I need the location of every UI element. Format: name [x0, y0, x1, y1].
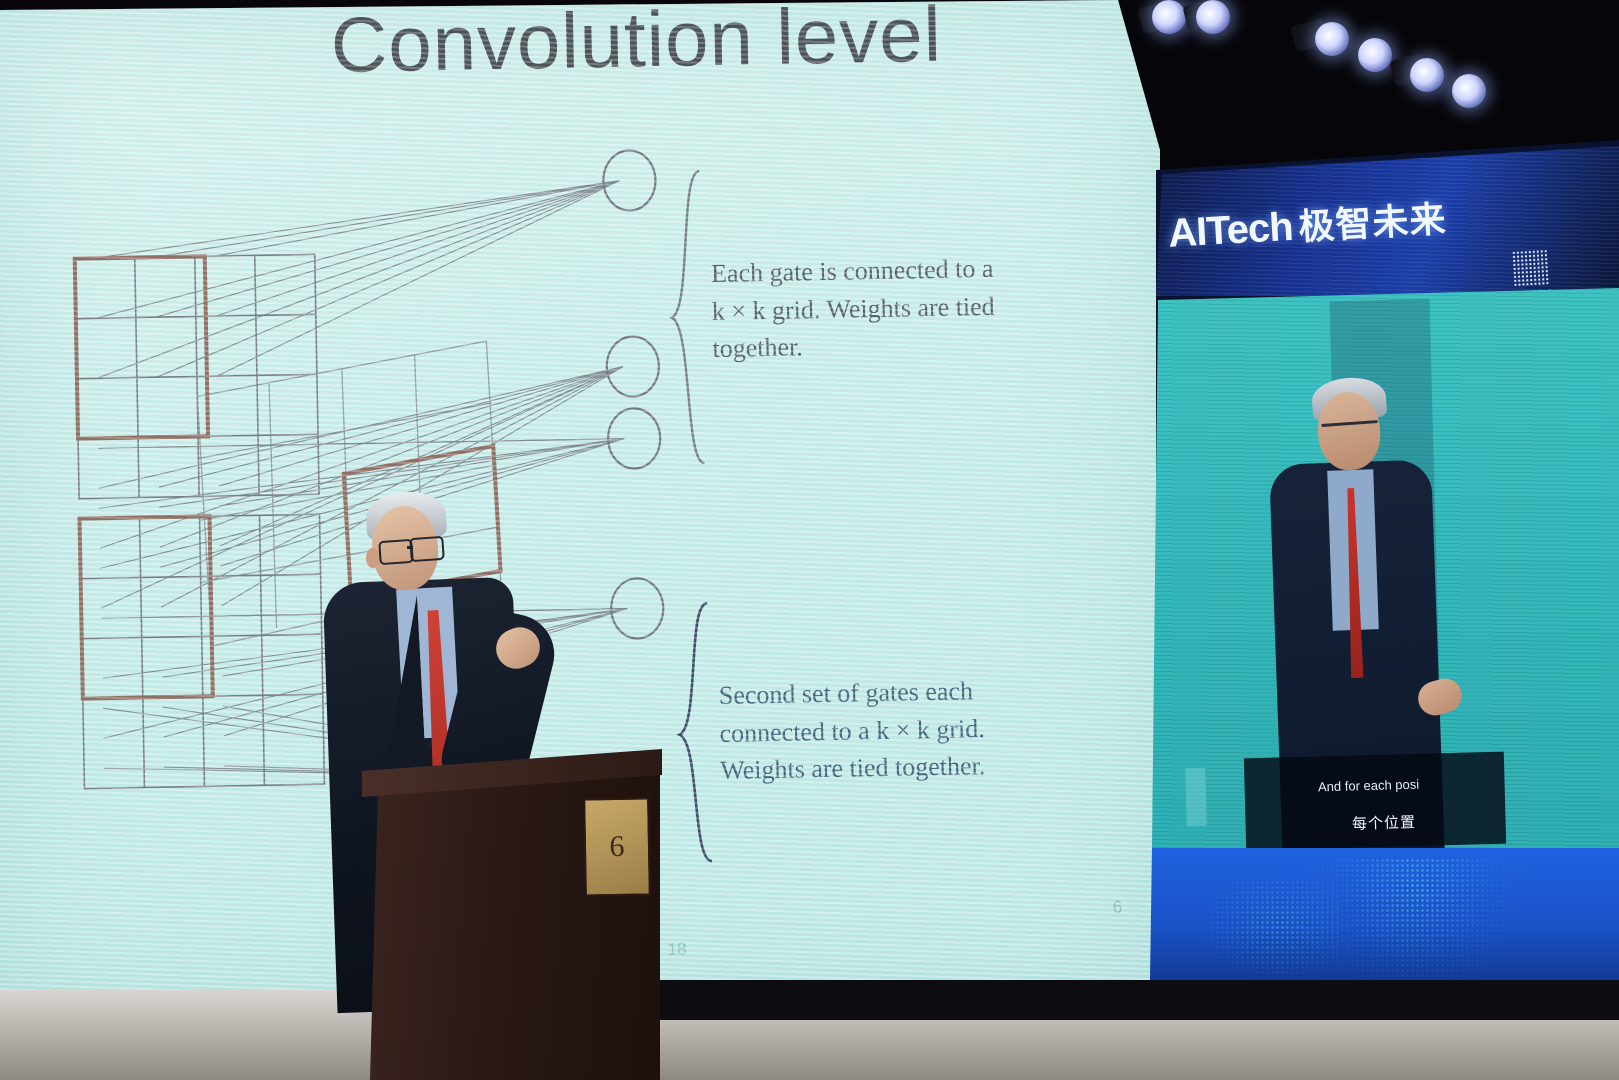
conference-stage-scene: Convolution level	[0, 0, 1619, 1080]
slide-text-line: Each gate is connected to a	[711, 249, 1032, 293]
speaker-glasses	[378, 539, 414, 565]
spotlight-icon	[1358, 38, 1392, 72]
brand-chinese-text: 极智未来	[1297, 198, 1447, 247]
speaker-glasses	[409, 536, 445, 562]
spotlight-icon	[1315, 22, 1349, 56]
slide-text-line: connected to a k × k grid.	[719, 709, 1040, 753]
slide-text-line: k × k grid. Weights are tied	[711, 287, 1032, 331]
speaker-glasses-bridge	[407, 546, 413, 549]
gate-node	[606, 336, 659, 397]
slide-text-line: Second set of gates each	[719, 671, 1040, 715]
spotlight-icon	[1410, 58, 1444, 92]
gate-nodes	[603, 150, 664, 639]
slide-text-line: Weights are tied together.	[720, 746, 1041, 790]
slide-page-number: 6	[1113, 898, 1123, 918]
brand-latin-text: AITech	[1167, 205, 1294, 256]
brace-top	[663, 167, 718, 468]
slide-text-line: together.	[712, 325, 1033, 369]
subtitle-chinese: 每个位置	[1352, 811, 1417, 834]
subtitle-band	[1244, 752, 1506, 851]
stage-front-edge	[660, 980, 1619, 1020]
input-grid-1	[75, 254, 319, 498]
slide-text-block-2: Second set of gates each connected to a …	[719, 671, 1041, 790]
pixel-ai-logo-icon	[1512, 249, 1550, 287]
podium-plaque: 6	[583, 797, 651, 896]
brace-bottom	[671, 599, 726, 870]
gate-node	[603, 150, 656, 211]
subtitle-english: And for each posi	[1318, 777, 1420, 795]
spotlight-icon	[1452, 74, 1486, 108]
podium-plaque-mark: 6	[609, 830, 625, 864]
particle-globe-icon	[1190, 880, 1340, 990]
slide-text-block-1: Each gate is connected to a k × k grid. …	[711, 249, 1033, 368]
spotlight-icon	[1152, 0, 1186, 34]
slide-title: Convolution level	[330, 0, 943, 91]
spotlight-icon	[1196, 0, 1230, 34]
video-side-tag	[1185, 768, 1207, 827]
slide-footer-number: 18	[667, 940, 686, 960]
